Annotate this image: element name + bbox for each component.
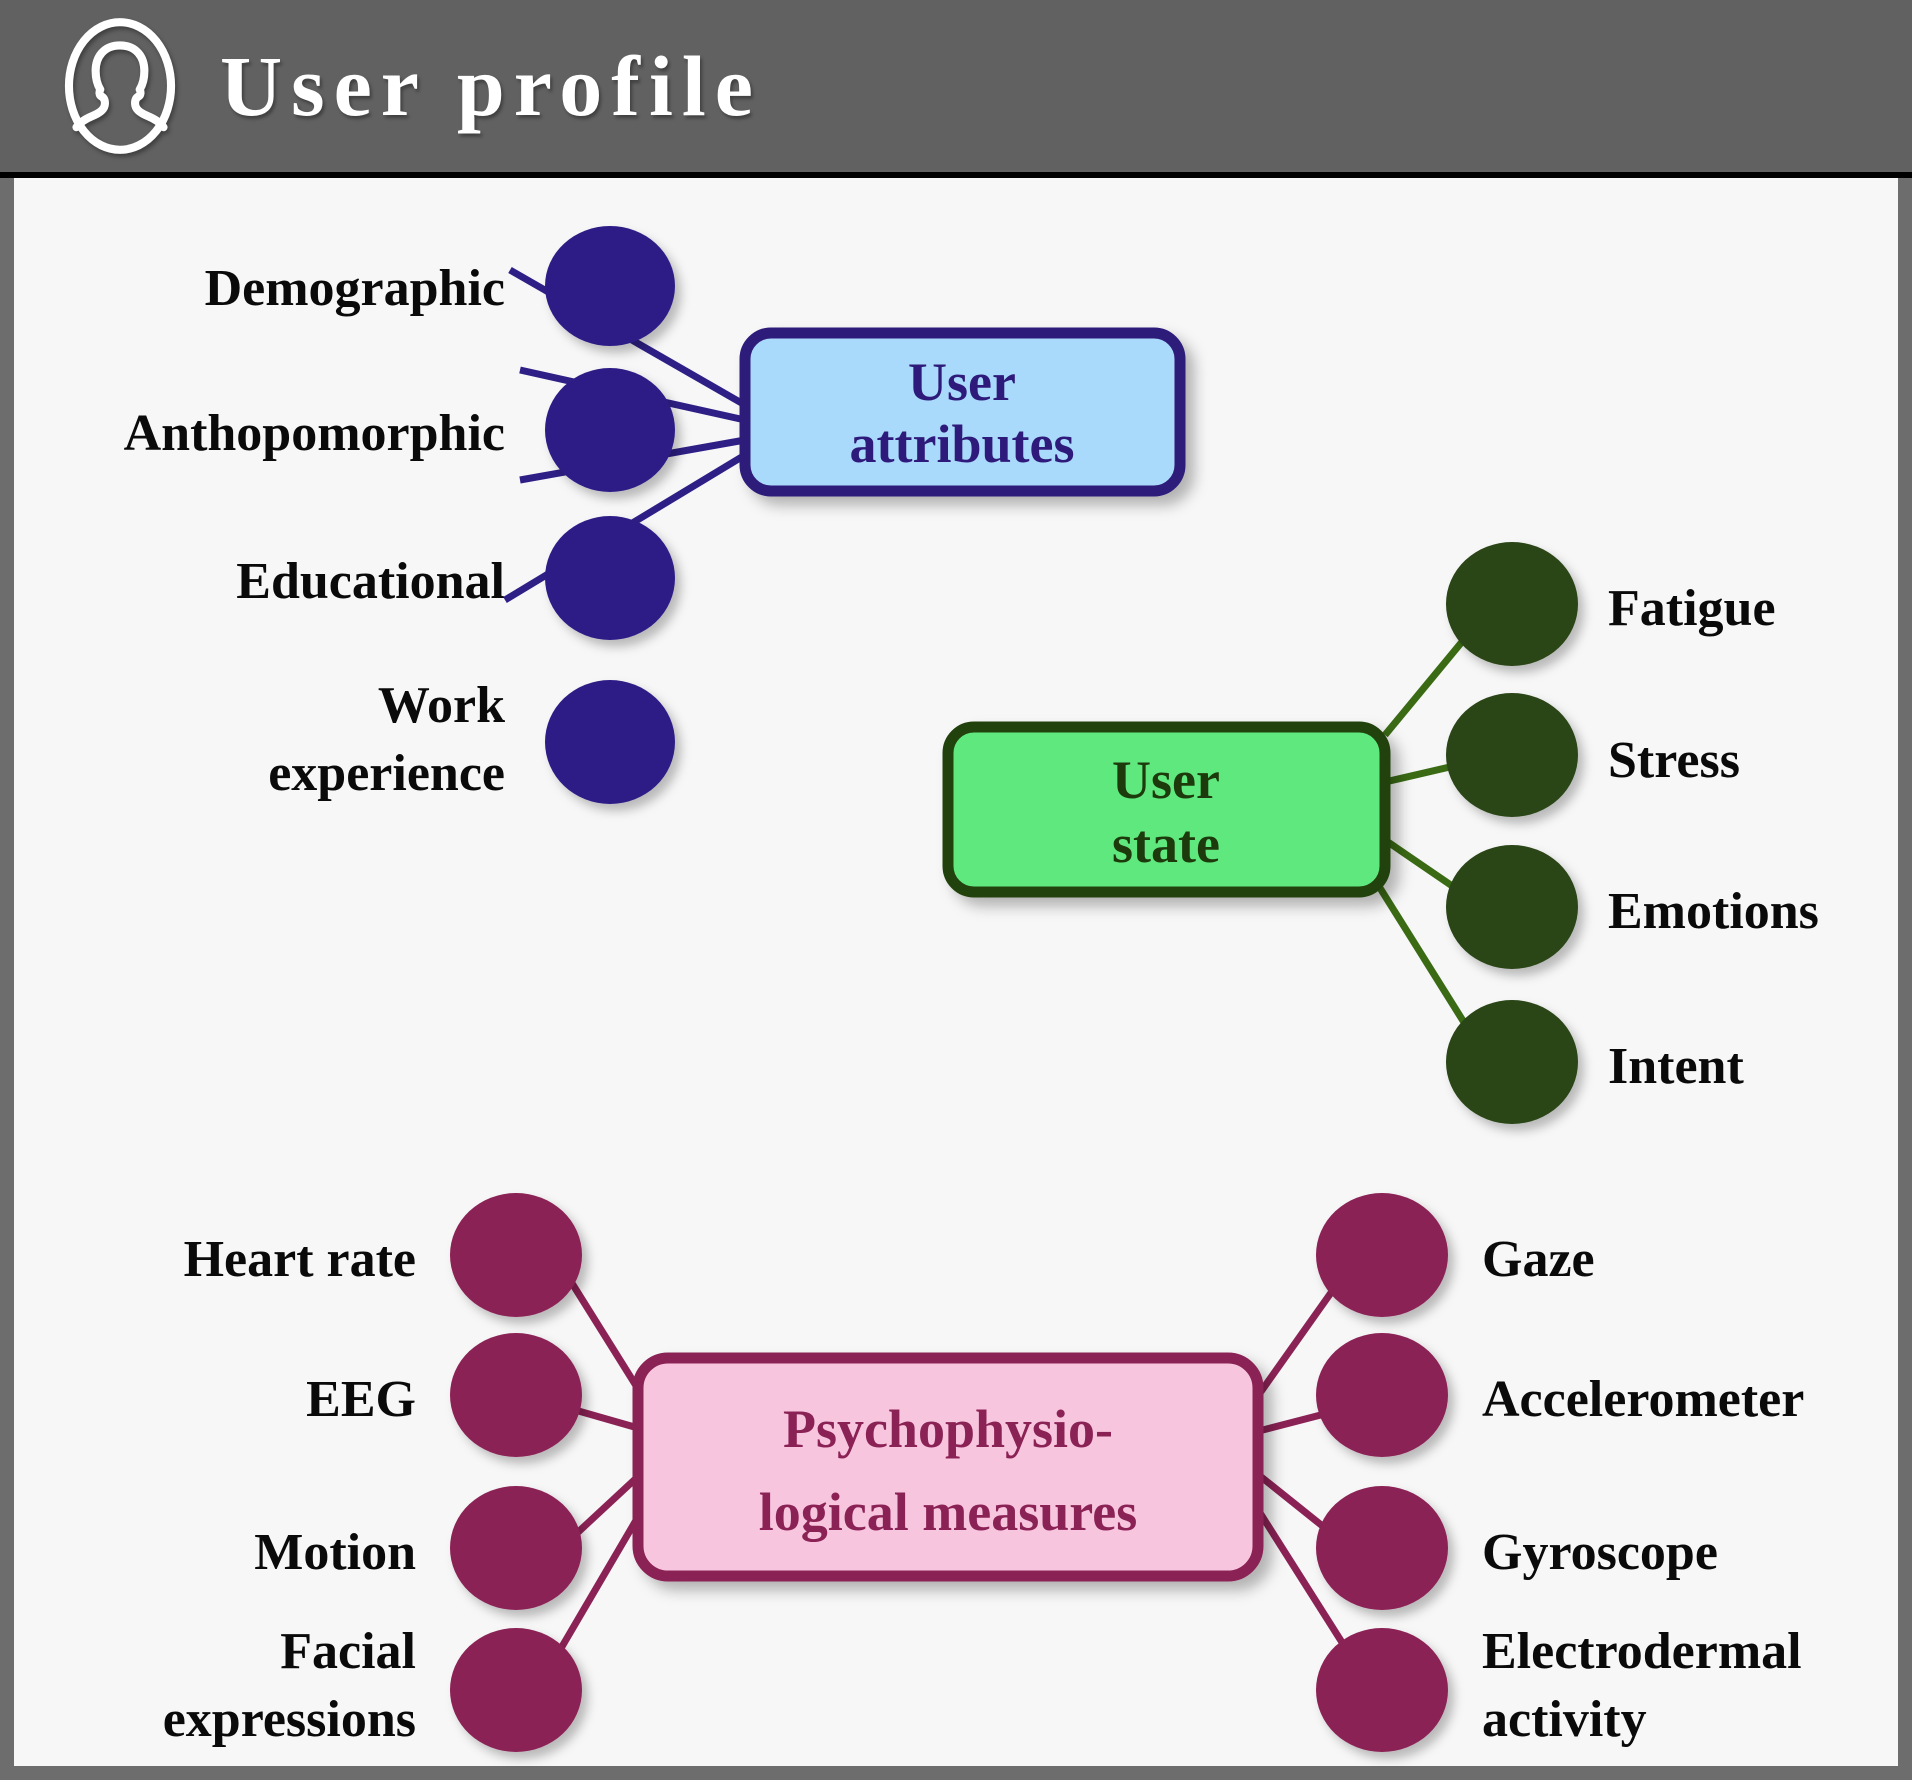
node-demographic[interactable] <box>545 226 675 346</box>
label-gyroscope: Gyroscope <box>1482 1524 1718 1581</box>
node-facial-expressions[interactable] <box>450 1628 582 1752</box>
box-user-attributes-label-line1: User <box>908 352 1016 412</box>
label-educational: Educational <box>236 553 505 610</box>
label-heart-rate: Heart rate <box>184 1231 416 1288</box>
node-motion[interactable] <box>450 1486 582 1610</box>
label-demographic: Demographic <box>205 260 505 317</box>
label-emotions: Emotions <box>1608 883 1819 940</box>
label-anthopomorphic: Anthopomorphic <box>124 405 505 462</box>
box-user-state-label-line1: User <box>1112 750 1220 810</box>
node-stress[interactable] <box>1446 693 1578 817</box>
label-electrodermal-activity-line2: activity <box>1482 1691 1647 1748</box>
node-emotions[interactable] <box>1446 845 1578 969</box>
edges-psychophysiological-right <box>1255 1280 1350 1655</box>
node-gyroscope[interactable] <box>1316 1486 1448 1610</box>
node-fatigue[interactable] <box>1446 542 1578 666</box>
node-heart-rate[interactable] <box>450 1193 582 1317</box>
label-eeg: EEG <box>306 1371 416 1428</box>
edges-psychophysiological-left <box>560 1280 645 1650</box>
node-anthopomorphic[interactable] <box>545 368 675 492</box>
label-fatigue: Fatigue <box>1608 580 1776 637</box>
node-work-experience[interactable] <box>545 680 675 804</box>
box-psychophysiological-measures[interactable] <box>638 1358 1258 1576</box>
box-user-state-label-line2: state <box>1112 814 1220 874</box>
edges-user-state <box>1375 620 1480 1048</box>
node-intent[interactable] <box>1446 1000 1578 1124</box>
node-gaze[interactable] <box>1316 1193 1448 1317</box>
node-educational[interactable] <box>545 516 675 640</box>
label-gaze: Gaze <box>1482 1231 1595 1288</box>
label-facial-expressions-line2: expressions <box>163 1691 416 1748</box>
label-work-experience-line2: experience <box>268 745 505 802</box>
cluster-psychophysiological-measures: Psychophysio- logical measures Heart rat… <box>163 1193 1805 1752</box>
label-intent: Intent <box>1608 1038 1744 1095</box>
cluster-user-attributes: User attributes Demographic Anthopomorph… <box>124 226 1180 804</box>
label-motion: Motion <box>254 1524 416 1581</box>
diagram-canvas: User attributes Demographic Anthopomorph… <box>0 0 1912 1780</box>
user-profile-diagram: User profile User attribu <box>0 0 1912 1780</box>
label-electrodermal-activity-line1: Electrodermal <box>1482 1623 1802 1680</box>
label-stress: Stress <box>1608 732 1740 789</box>
box-psychophysiological-measures-shape[interactable] <box>638 1358 1258 1576</box>
box-user-attributes-label-line2: attributes <box>850 414 1075 474</box>
cluster-user-state: User state Fatigue Stress Emotions Inten… <box>948 542 1819 1124</box>
node-accelerometer[interactable] <box>1316 1333 1448 1457</box>
box-psychophysiological-measures-label-line1: Psychophysio- <box>783 1399 1113 1459</box>
label-accelerometer: Accelerometer <box>1482 1371 1804 1428</box>
box-psychophysiological-measures-label-line2: logical measures <box>759 1482 1137 1542</box>
node-eeg[interactable] <box>450 1333 582 1457</box>
label-work-experience-line1: Work <box>378 677 505 734</box>
node-electrodermal-activity[interactable] <box>1316 1628 1448 1752</box>
label-facial-expressions-line1: Facial <box>280 1623 416 1680</box>
